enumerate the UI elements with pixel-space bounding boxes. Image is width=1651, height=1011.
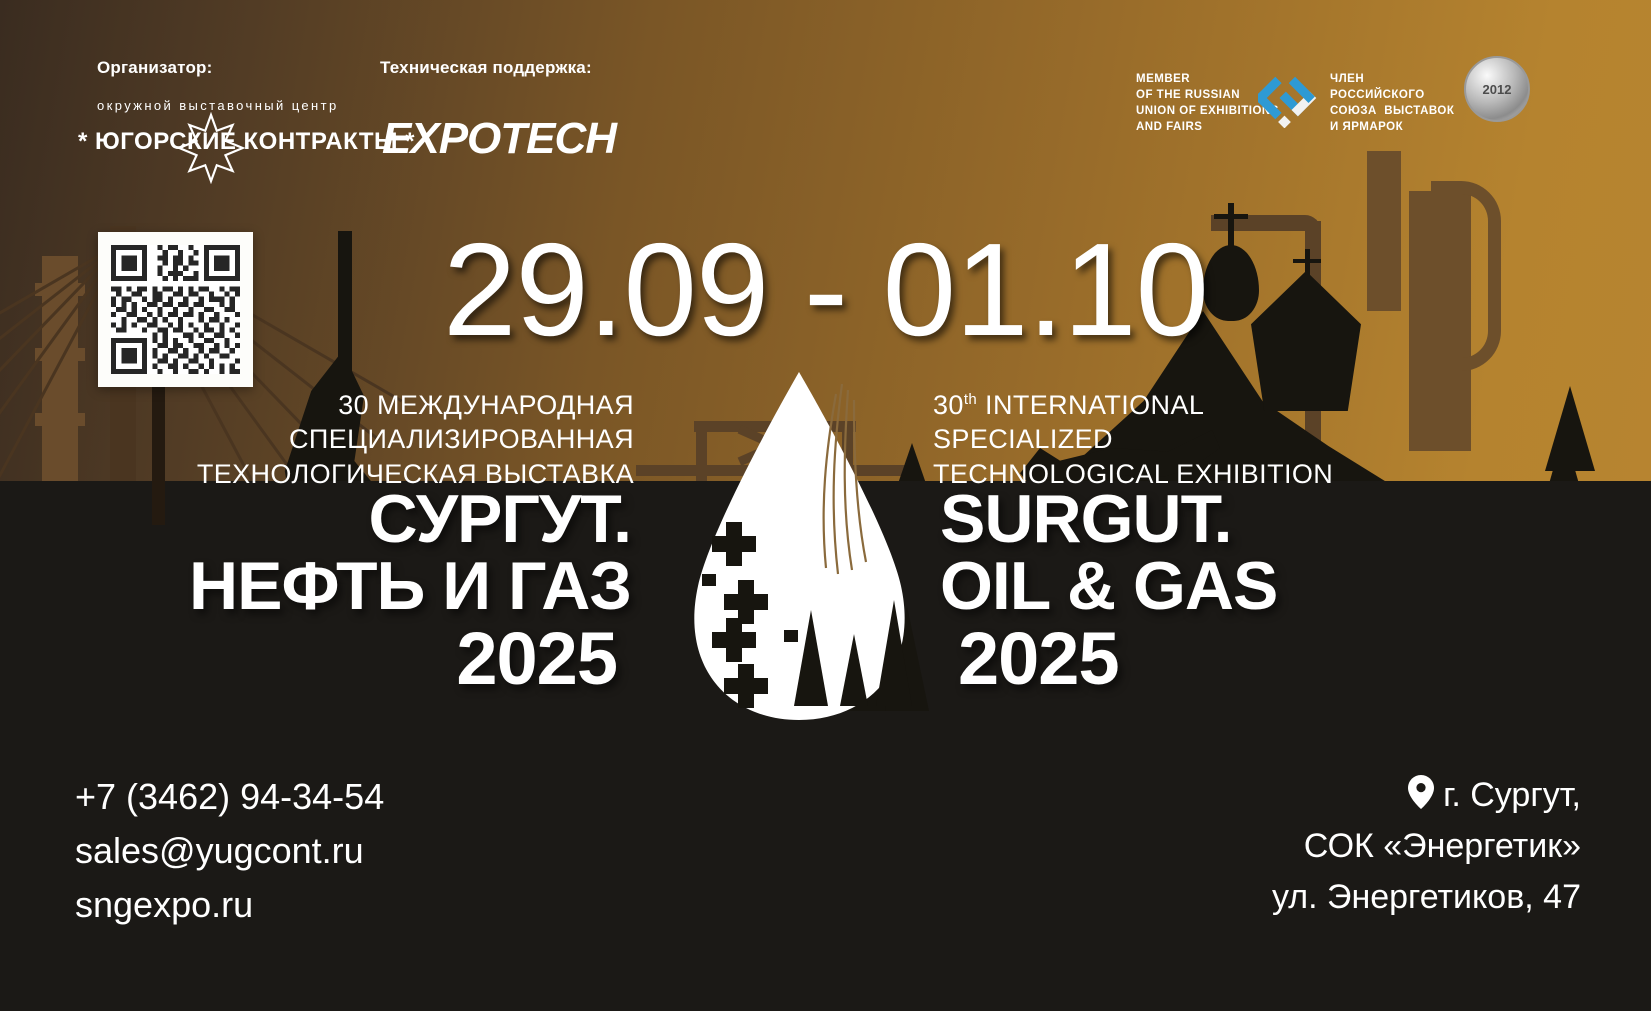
subtitle-en-ordinal-suffix: th xyxy=(964,391,977,408)
venue-city-row: г. Сургут, xyxy=(1272,770,1581,821)
ruef-label-ru: ЧЛЕН РОССИЙСКОГО СОЮЗА ВЫСТАВОК И ЯРМАРО… xyxy=(1330,72,1454,135)
award-medal-icon: 2012 xyxy=(1464,56,1530,122)
church-cross-bar xyxy=(1214,214,1248,219)
fir-tree xyxy=(1545,386,1595,471)
subtitle-en-text: INTERNATIONAL SPECIALIZED TECHNOLOGICAL … xyxy=(933,390,1333,489)
tech-support-label: Техническая поддержка: xyxy=(380,58,592,78)
snowflake-icon xyxy=(175,112,247,184)
title-en-line1: SURGUT. xyxy=(940,481,1231,557)
title-en-year: 2025 xyxy=(940,621,1640,696)
title-russian: СУРГУТ. НЕФТЬ И ГАЗ 2025 xyxy=(0,486,631,696)
emblem-derrick xyxy=(876,600,912,706)
title-english: SURGUT. OIL & GAS 2025 xyxy=(940,486,1640,696)
venue-street: ул. Энергетиков, 47 xyxy=(1272,872,1581,923)
emblem-derrick xyxy=(840,634,868,706)
venue-place: СОК «Энергетик» xyxy=(1272,821,1581,872)
expotech-logo: EXPOTECH xyxy=(382,114,616,164)
venue-block: г. Сургут, СОК «Энергетик» ул. Энергетик… xyxy=(1272,770,1581,923)
title-en-line2: OIL & GAS xyxy=(940,548,1277,624)
oil-drop-emblem xyxy=(672,372,927,720)
venue-city: г. Сургут, xyxy=(1443,776,1581,814)
organizer-label: Организатор: xyxy=(97,58,212,78)
title-ru-line2: НЕФТЬ И ГАЗ xyxy=(189,548,631,624)
medal-year-label: 2012 xyxy=(1483,82,1512,97)
event-dates: 29.09 - 01.10 xyxy=(0,224,1651,356)
emblem-derrick xyxy=(794,610,828,706)
flame-streak-icon xyxy=(784,384,904,614)
location-pin-icon xyxy=(1408,775,1434,809)
title-ru-year: 2025 xyxy=(0,621,631,696)
subtitle-en-number: 30 xyxy=(933,390,964,420)
title-ru-line1: СУРГУТ. xyxy=(369,481,631,557)
ruef-logo-icon xyxy=(1258,68,1318,128)
contact-website[interactable]: sngexpo.ru xyxy=(75,878,384,932)
contact-email[interactable]: sales@yugcont.ru xyxy=(75,824,384,878)
subtitle-english: 30th INTERNATIONAL SPECIALIZED TECHNOLOG… xyxy=(933,388,1493,491)
contact-block: +7 (3462) 94-34-54 sales@yugcont.ru snge… xyxy=(75,770,384,932)
contact-phone[interactable]: +7 (3462) 94-34-54 xyxy=(75,770,384,824)
subtitle-russian: 30 МЕЖДУНАРОДНАЯ СПЕЦИАЛИЗИРОВАННАЯ ТЕХН… xyxy=(74,388,634,491)
organizer-sub-label: окружной выставочный центр xyxy=(97,98,339,113)
event-banner: Организатор: окружной выставочный центр … xyxy=(0,0,1651,1011)
